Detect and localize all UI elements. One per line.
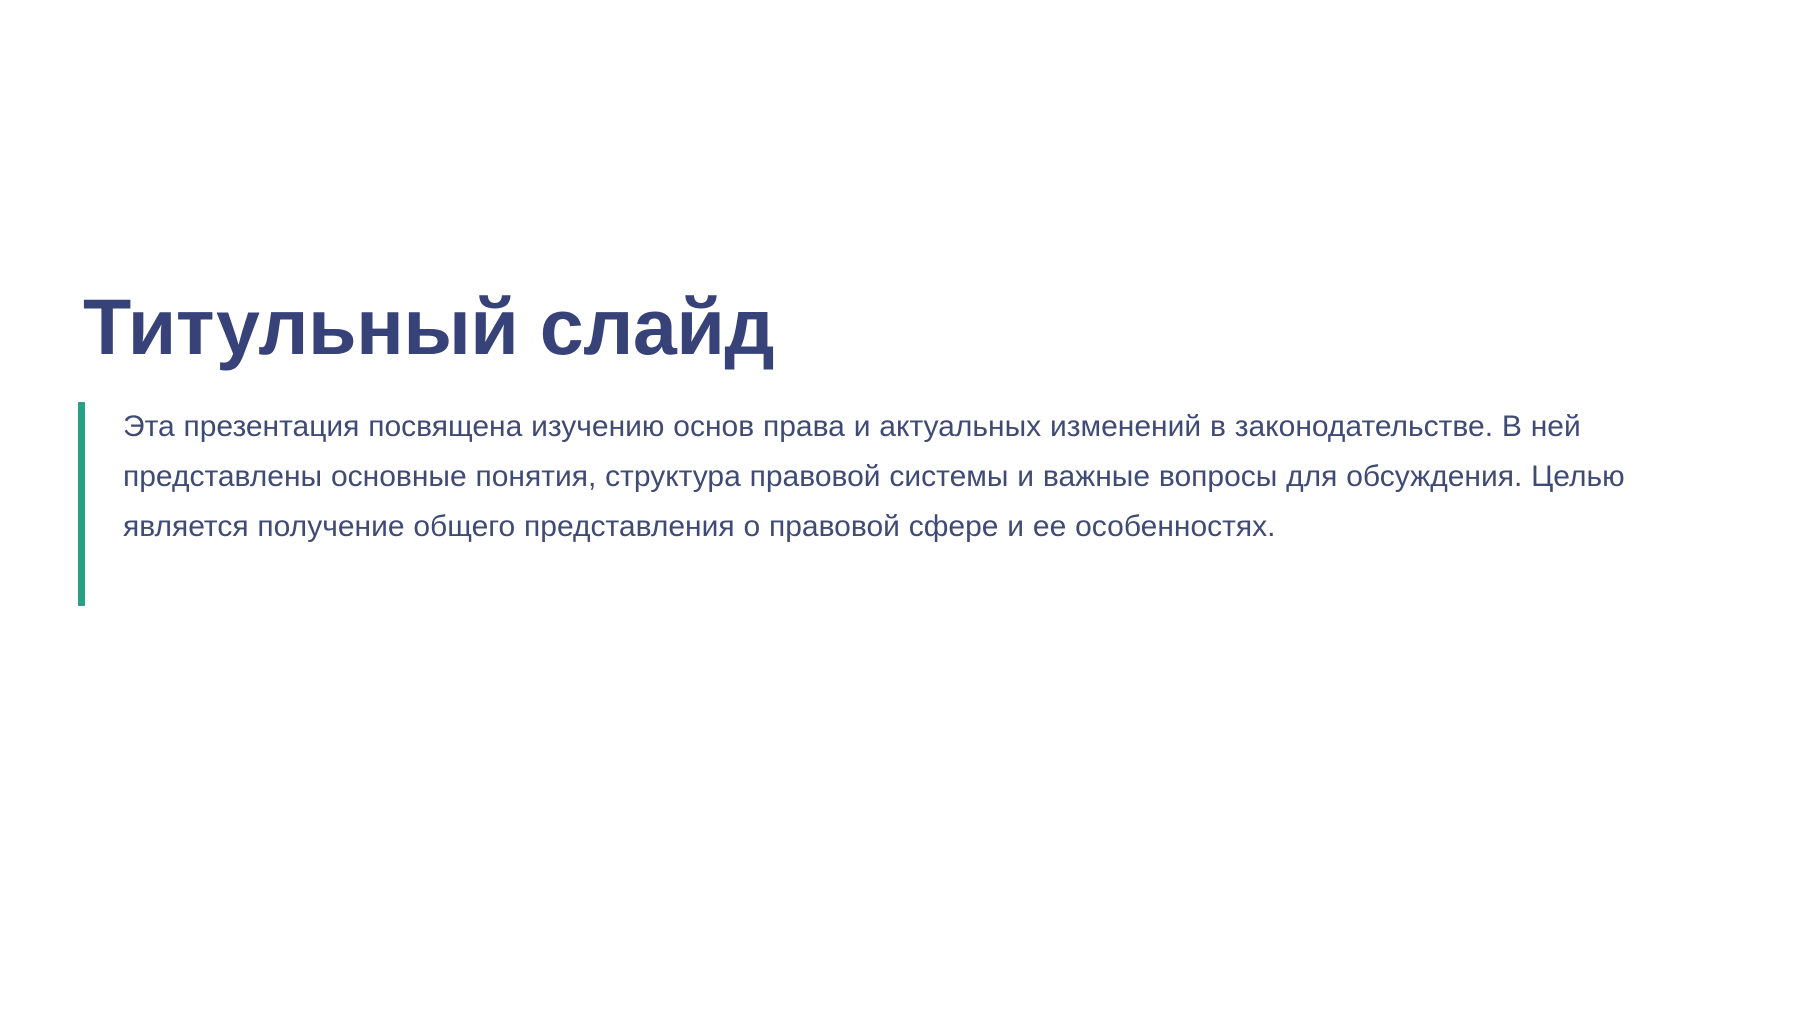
presentation-slide: Титульный слайд Эта презентация посвящен… <box>0 0 1800 1013</box>
slide-content-area: Титульный слайд Эта презентация посвящен… <box>78 286 1728 606</box>
body-text-block: Эта презентация посвящена изучению основ… <box>78 402 1728 606</box>
accent-bar <box>78 402 85 606</box>
slide-body-paragraph: Эта презентация посвящена изучению основ… <box>123 402 1723 552</box>
page-title: Титульный слайд <box>78 286 1728 368</box>
